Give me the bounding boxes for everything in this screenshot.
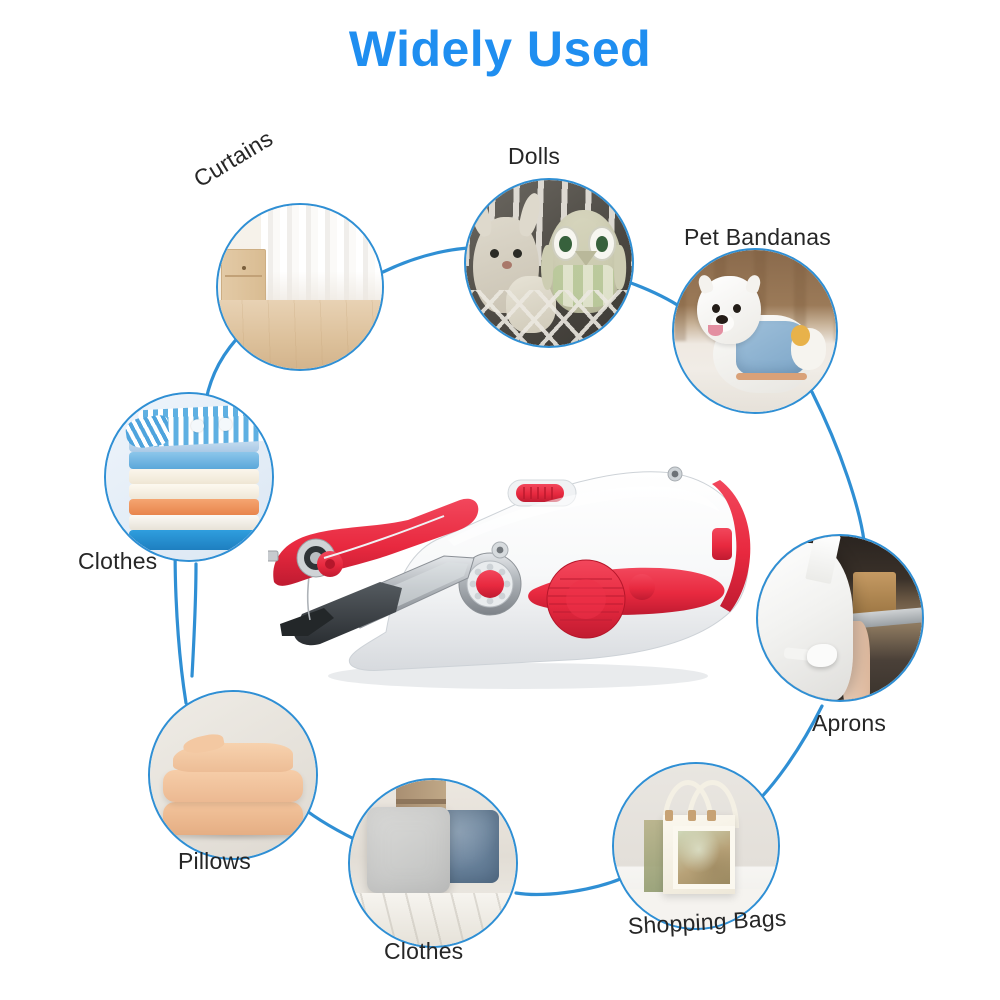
aprons-photo[interactable] [756,534,924,702]
callout-label-aprons: Aprons [812,710,886,737]
shopping-bags-photo[interactable] [612,762,780,930]
callout-label-clothes-left: Clothes [78,548,157,575]
callout-label-pet-bandanas: Pet Bandanas [684,224,831,251]
handheld-sewing-machine-image [268,436,768,698]
dolls-photo[interactable] [464,178,634,348]
infographic-canvas: Widely Used [0,0,1000,1000]
callout-label-pillows: Pillows [178,848,251,875]
cushions-photo[interactable] [348,778,518,948]
pillows-photo[interactable] [148,690,318,860]
callout-label-dolls: Dolls [508,143,560,170]
pet-bandanas-photo[interactable] [672,248,838,414]
clothes-photo[interactable] [104,392,274,562]
curtains-photo[interactable] [216,203,384,371]
callout-label-clothes-bottom: Clothes [384,938,463,965]
